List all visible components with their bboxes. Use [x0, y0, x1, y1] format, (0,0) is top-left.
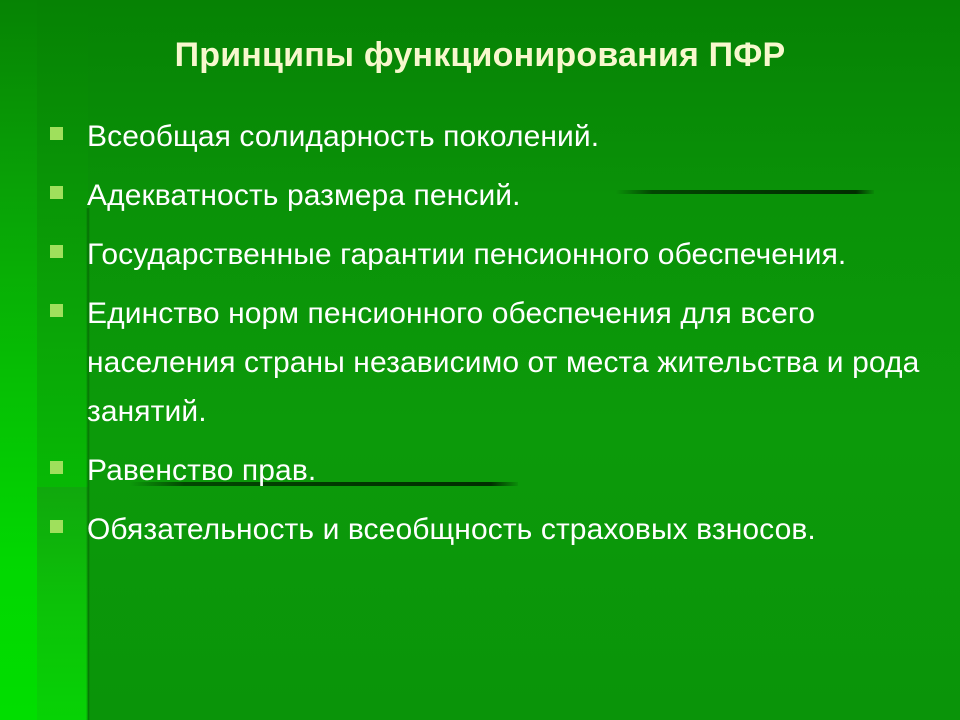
- slide-title: Принципы функционирования ПФР: [0, 34, 960, 76]
- list-item-text: Адекватность размера пенсий.: [87, 171, 930, 220]
- list-item-text: Обязательность и всеобщность страховых в…: [87, 505, 930, 554]
- list-item: Единство норм пенсионного обеспечения дл…: [50, 289, 930, 436]
- square-bullet-icon: [50, 127, 63, 140]
- list-item-text: Всеобщая солидарность поколений.: [87, 112, 930, 161]
- list-item-text: Равенство прав.: [87, 446, 930, 495]
- square-bullet-icon: [50, 461, 63, 474]
- square-bullet-icon: [50, 520, 63, 533]
- bullet-list: Всеобщая солидарность поколений. Адекват…: [50, 112, 930, 564]
- square-bullet-icon: [50, 186, 63, 199]
- list-item: Равенство прав.: [50, 446, 930, 495]
- square-bullet-icon: [50, 245, 63, 258]
- list-item-text: Государственные гарантии пенсионного обе…: [87, 230, 930, 279]
- list-item: Государственные гарантии пенсионного обе…: [50, 230, 930, 279]
- list-item: Всеобщая солидарность поколений.: [50, 112, 930, 161]
- list-item: Обязательность и всеобщность страховых в…: [50, 505, 930, 554]
- presentation-slide: Принципы функционирования ПФР Всеобщая с…: [0, 0, 960, 720]
- list-item-text: Единство норм пенсионного обеспечения дл…: [87, 289, 930, 436]
- list-item: Адекватность размера пенсий.: [50, 171, 930, 220]
- left-gradient-band-bright: [0, 0, 37, 720]
- square-bullet-icon: [50, 304, 63, 317]
